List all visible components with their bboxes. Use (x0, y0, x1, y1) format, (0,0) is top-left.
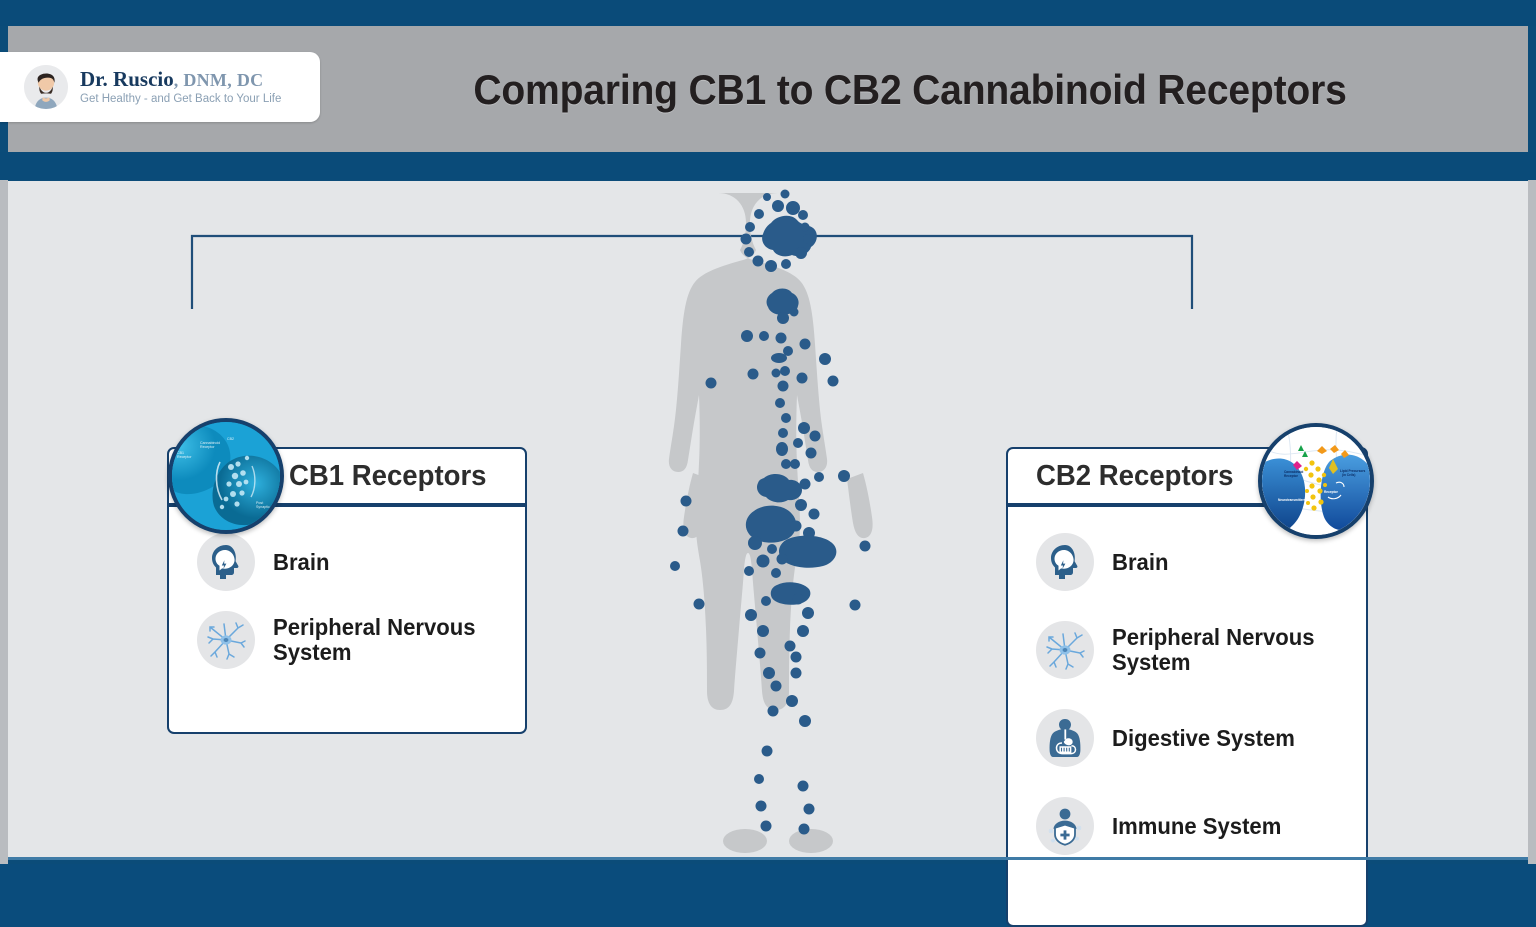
svg-text:(in Cells): (in Cells) (1342, 473, 1355, 477)
cb1-card-title: CB1 Receptors (289, 460, 487, 493)
brand-text: Dr. Ruscio, DNM, DC Get Healthy - and Ge… (80, 68, 281, 105)
brain-head-icon (197, 533, 255, 591)
header-top-bar (0, 0, 1536, 26)
svg-text:CB2: CB2 (227, 437, 234, 441)
cb2-synapse-badge: Cannabinoid Receptor Lipid Precursors (i… (1258, 423, 1374, 539)
svg-text:Neurotransmitters: Neurotransmitters (1278, 498, 1306, 502)
brain-head-icon (1036, 533, 1094, 591)
human-body-figure (633, 181, 923, 857)
cb1-synapse-badge: CannabinoidReceptor CB1Receptor CB2 Post… (168, 418, 284, 534)
brand-credentials: , DNM, DC (174, 70, 264, 90)
right-edge-strip (1528, 180, 1536, 864)
list-item[interactable]: Peripheral Nervous System (1036, 621, 1366, 679)
avatar (24, 65, 68, 109)
cb2-item-list: Brain (1008, 507, 1366, 855)
svg-text:Receptor: Receptor (1324, 490, 1339, 494)
brand-name-line: Dr. Ruscio, DNM, DC (80, 68, 281, 90)
list-item-label: Peripheral Nervous System (273, 615, 515, 665)
left-edge-strip (0, 180, 8, 864)
list-item-label: Peripheral Nervous System (1112, 625, 1356, 675)
list-item-label: Immune System (1112, 814, 1281, 839)
content-canvas: CB1 Receptors Brain (8, 181, 1528, 857)
svg-text:Receptor: Receptor (1284, 474, 1299, 478)
list-item[interactable]: Brain (197, 533, 525, 591)
list-item[interactable]: Digestive System (1036, 709, 1366, 767)
brand-tagline: Get Healthy - and Get Back to Your Life (80, 93, 281, 105)
list-item[interactable]: Brain (1036, 533, 1366, 591)
header-bottom-bar (0, 152, 1536, 180)
svg-text:Synaptic: Synaptic (256, 505, 270, 509)
svg-text:Receptor: Receptor (177, 455, 192, 459)
list-item[interactable]: Peripheral Nervous System (197, 611, 525, 669)
list-item[interactable]: Immune System (1036, 797, 1366, 855)
list-item-label: Brain (273, 550, 329, 575)
neuron-icon (1036, 621, 1094, 679)
digestive-torso-icon (1036, 709, 1094, 767)
list-item-label: Digestive System (1112, 726, 1295, 751)
cb2-card-title: CB2 Receptors (1036, 460, 1234, 493)
brand-logo[interactable]: Dr. Ruscio, DNM, DC Get Healthy - and Ge… (0, 52, 320, 122)
neuron-icon (197, 611, 255, 669)
bottom-rule (8, 857, 1528, 860)
infographic-root: Dr. Ruscio, DNM, DC Get Healthy - and Ge… (0, 0, 1536, 864)
svg-text:Receptor: Receptor (200, 445, 215, 449)
immune-shield-icon (1036, 797, 1094, 855)
brand-name: Dr. Ruscio (80, 67, 174, 91)
page-title: Comparing CB1 to CB2 Cannabinoid Recepto… (380, 57, 1440, 123)
list-item-label: Brain (1112, 550, 1168, 575)
